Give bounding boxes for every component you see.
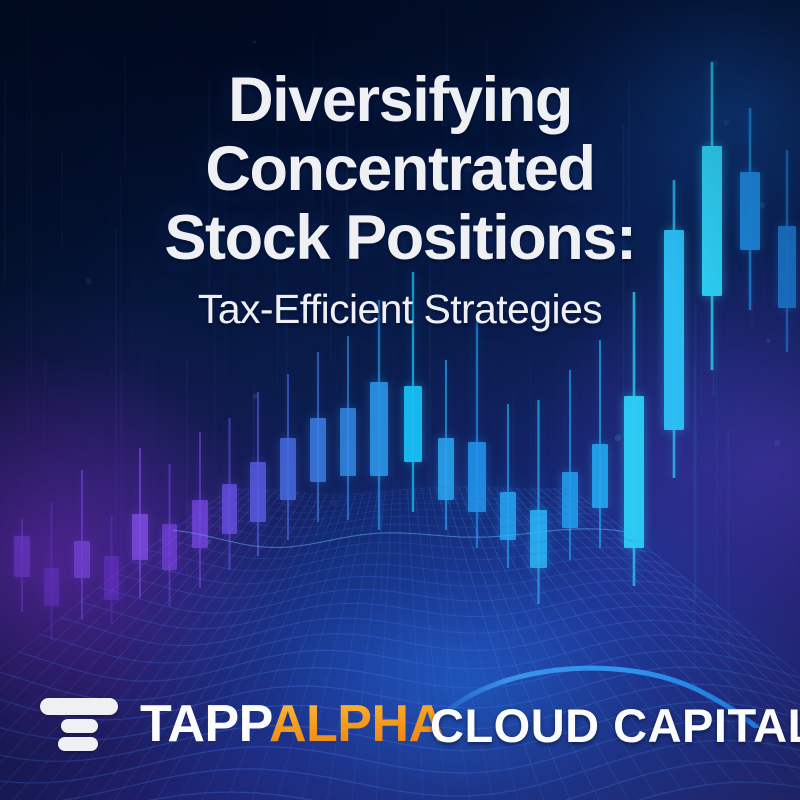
tappalpha-wordmark: TAPPALPHA [140,698,446,750]
headline-line-1: Diversifying [0,66,800,135]
headline-subtitle: Tax-Efficient Strategies [0,285,800,333]
headline-block: Diversifying Concentrated Stock Position… [0,66,800,333]
tappalpha-word-tapp: TAPP [140,695,269,753]
headline-line-2: Concentrated [0,135,800,204]
title-card-canvas: Diversifying Concentrated Stock Position… [0,0,800,800]
funnel-bar-middle [61,719,98,733]
funnel-bar-top [40,698,118,715]
tappalpha-word-alpha: ALPHA [269,695,446,753]
tappalpha-logo: TAPPALPHA [40,696,446,752]
cloudcapital-wordmark: CLOUD CAPITAL [430,700,760,752]
headline-line-3: Stock Positions: [0,204,800,273]
funnel-bar-bottom [58,737,98,751]
footer-logo-row: TAPPALPHA CLOUD CAPITAL [0,660,800,800]
cloudcapital-logo: CLOUD CAPITAL [430,656,760,752]
three-bars-funnel-icon [40,696,118,752]
